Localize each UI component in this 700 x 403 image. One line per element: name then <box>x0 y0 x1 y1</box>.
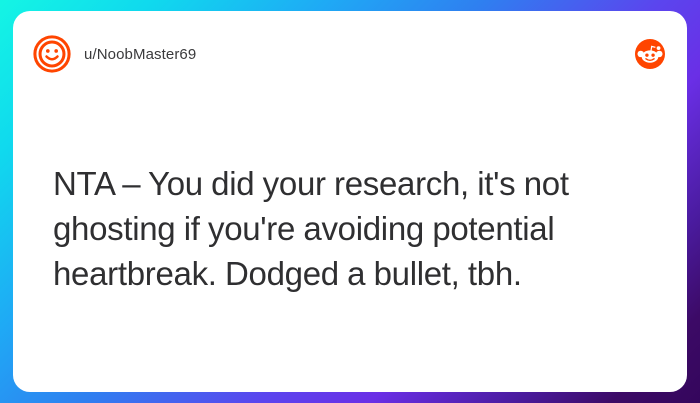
reddit-snoo-icon <box>635 39 665 69</box>
comment-body: NTA – You did your research, it's not gh… <box>53 161 653 296</box>
canvas-background: u/NoobMaster69 <box>0 0 700 403</box>
reddit-comment-card: u/NoobMaster69 <box>13 11 687 392</box>
brand-logo[interactable] <box>635 39 665 69</box>
comment-text: NTA – You did your research, it's not gh… <box>53 161 653 296</box>
comment-header: u/NoobMaster69 <box>13 11 687 97</box>
smiley-face-icon <box>33 35 71 73</box>
author-username[interactable]: u/NoobMaster69 <box>84 47 196 62</box>
avatar[interactable] <box>33 35 71 73</box>
